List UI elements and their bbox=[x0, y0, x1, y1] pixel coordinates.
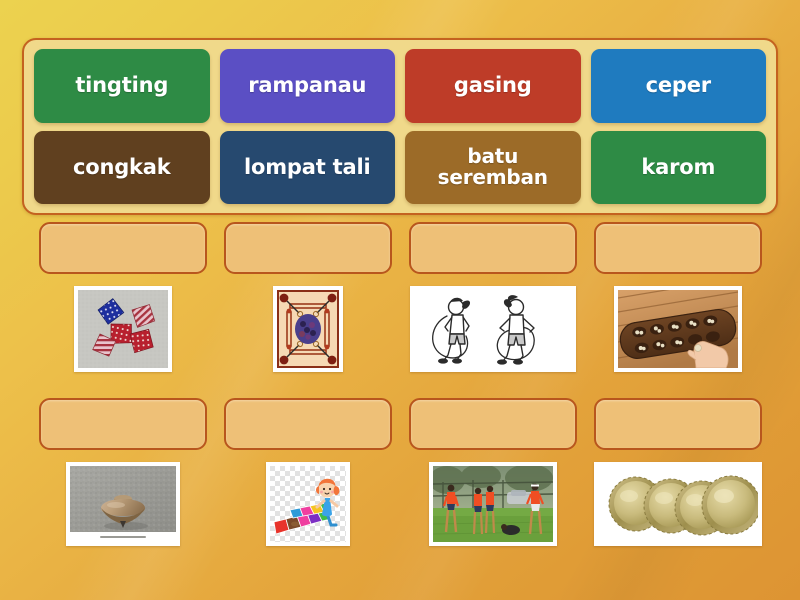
drop-zone-8[interactable] bbox=[594, 398, 762, 450]
answer-cell-3 bbox=[400, 222, 585, 372]
word-tile-rampanau[interactable]: rampanau bbox=[220, 49, 396, 123]
word-tile-batu-seremban[interactable]: batu seremban bbox=[405, 131, 581, 205]
word-tile-label: ceper bbox=[646, 74, 711, 97]
answer-area bbox=[0, 222, 800, 546]
drop-zone-5[interactable] bbox=[39, 398, 207, 450]
thumbnail-frame-1 bbox=[74, 286, 172, 372]
thumbnail-frame-4 bbox=[614, 286, 742, 372]
bottle-caps-ceper-image bbox=[598, 466, 758, 542]
word-tile-label: congkak bbox=[73, 156, 171, 179]
thumbnail-frame-5 bbox=[66, 462, 180, 546]
word-bank-panel: tingting rampanau gasing ceper congkak l… bbox=[22, 38, 778, 215]
word-tile-grid: tingting rampanau gasing ceper congkak l… bbox=[34, 49, 766, 204]
skipping-rope-children-image bbox=[414, 290, 572, 368]
carrom-board-image bbox=[277, 290, 339, 368]
word-tile-tingting[interactable]: tingting bbox=[34, 49, 210, 123]
word-tile-congkak[interactable]: congkak bbox=[34, 131, 210, 205]
drop-zone-2[interactable] bbox=[224, 222, 392, 274]
drop-zone-1[interactable] bbox=[39, 222, 207, 274]
hopscotch-tingting-image bbox=[270, 466, 346, 542]
word-tile-label: tingting bbox=[75, 74, 168, 97]
answer-cell-4 bbox=[585, 222, 770, 372]
answer-cell-1 bbox=[30, 222, 215, 372]
thumbnail-frame-3 bbox=[410, 286, 576, 372]
batu-seremban-beanbags-image bbox=[78, 290, 168, 368]
answer-row-1 bbox=[0, 222, 800, 372]
word-tile-gasing[interactable]: gasing bbox=[405, 49, 581, 123]
word-tile-label: karom bbox=[641, 156, 715, 179]
word-tile-karom[interactable]: karom bbox=[591, 131, 767, 205]
spinning-top-gasing-image bbox=[70, 466, 176, 542]
word-tile-label: lompat tali bbox=[244, 156, 370, 179]
thumbnail-frame-2 bbox=[273, 286, 343, 372]
drop-zone-3[interactable] bbox=[409, 222, 577, 274]
thumbnail-frame-8 bbox=[594, 462, 762, 546]
answer-cell-7 bbox=[400, 398, 585, 546]
thumbnail-frame-7 bbox=[429, 462, 557, 546]
answer-row-2 bbox=[0, 398, 800, 546]
word-tile-ceper[interactable]: ceper bbox=[591, 49, 767, 123]
stilts-rampanau-image bbox=[433, 466, 553, 542]
word-tile-label: rampanau bbox=[248, 74, 366, 97]
drop-zone-4[interactable] bbox=[594, 222, 762, 274]
thumbnail-frame-6 bbox=[266, 462, 350, 546]
answer-cell-6 bbox=[215, 398, 400, 546]
word-tile-label: batu seremban bbox=[411, 146, 575, 189]
congkak-board-image bbox=[618, 290, 738, 368]
answer-cell-8 bbox=[585, 398, 770, 546]
answer-cell-5 bbox=[30, 398, 215, 546]
drop-zone-6[interactable] bbox=[224, 398, 392, 450]
word-tile-lompat-tali[interactable]: lompat tali bbox=[220, 131, 396, 205]
word-tile-label: gasing bbox=[454, 74, 532, 97]
drop-zone-7[interactable] bbox=[409, 398, 577, 450]
answer-cell-2 bbox=[215, 222, 400, 372]
